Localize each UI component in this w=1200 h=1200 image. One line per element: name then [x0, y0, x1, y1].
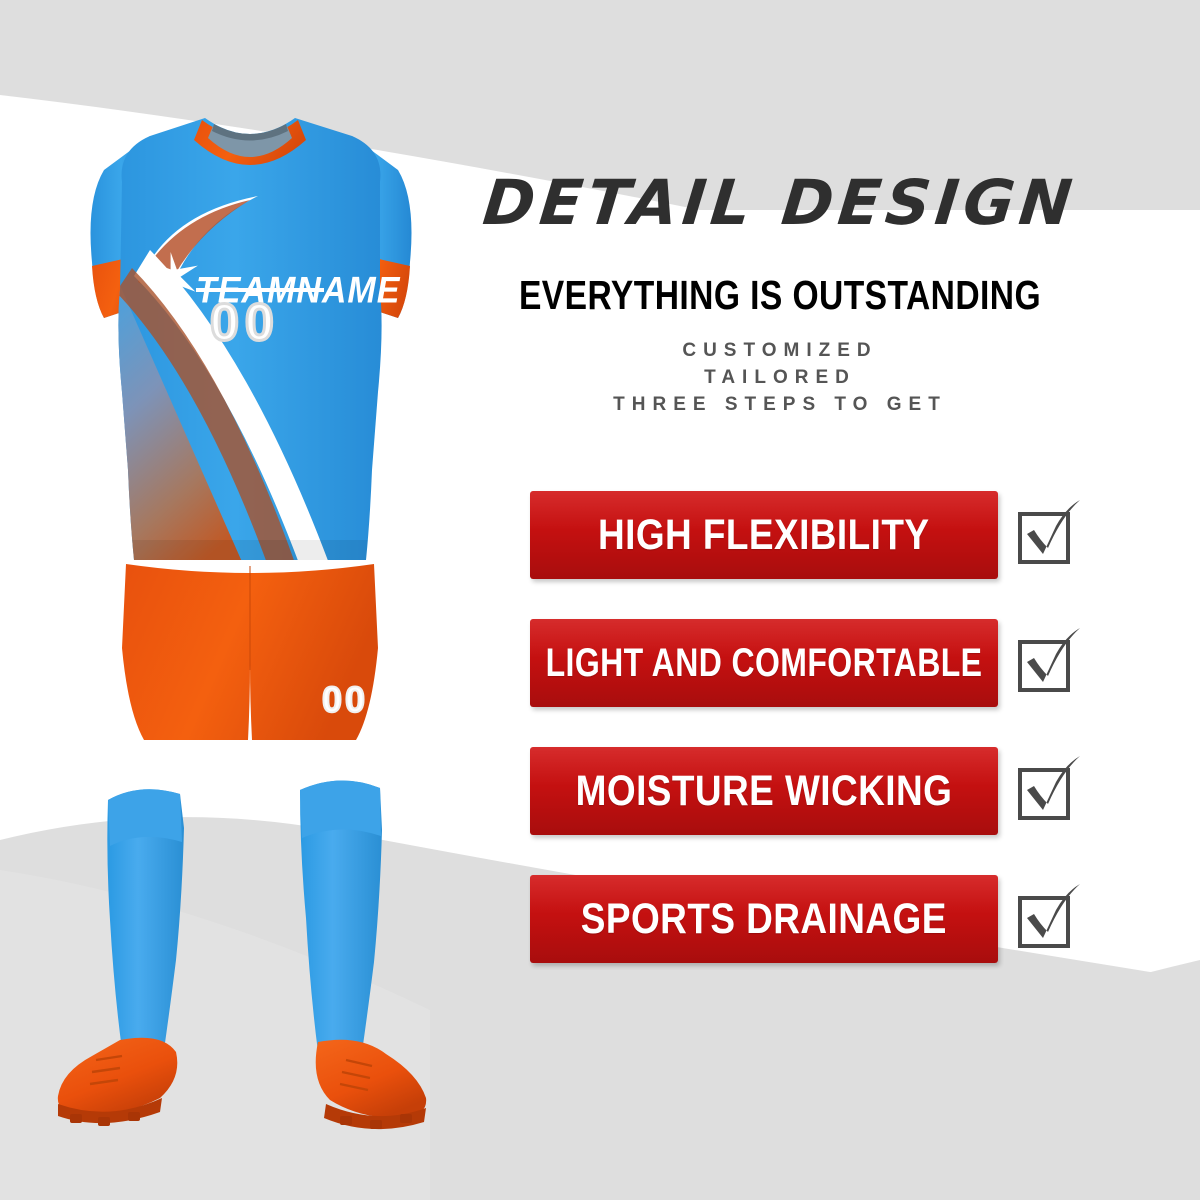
- tagline-line-2: TAILORED: [430, 364, 1130, 391]
- feature-label: LIGHT AND COMFORTABLE: [546, 641, 983, 686]
- feature-row: MOISTURE WICKING: [530, 746, 1170, 836]
- feature-row: HIGH FLEXIBILITY: [530, 490, 1170, 580]
- socks: [107, 780, 382, 1052]
- checkbox-checked-icon[interactable]: [1012, 496, 1084, 574]
- headline-wrap: DETAIL DESIGN: [430, 172, 1130, 234]
- feature-banner-sports-drainage[interactable]: SPORTS DRAINAGE: [530, 875, 998, 963]
- checkbox-checked-svg: [1012, 624, 1084, 702]
- subheadline: EVERYTHING IS OUTSTANDING: [493, 272, 1067, 319]
- soccer-uniform-illustration: TEAMNAME 00 00: [0, 0, 500, 1200]
- feature-banner-light-and-comfortable[interactable]: LIGHT AND COMFORTABLE: [530, 619, 998, 707]
- feature-label: HIGH FLEXIBILITY: [598, 511, 929, 560]
- feature-label: MOISTURE WICKING: [576, 767, 953, 816]
- page-title: DETAIL DESIGN: [427, 172, 1134, 234]
- jersey: TEAMNAME 00: [91, 100, 412, 580]
- feature-banner-high-flexibility[interactable]: HIGH FLEXIBILITY: [530, 491, 998, 579]
- checkbox-checked-icon[interactable]: [1012, 752, 1084, 830]
- product-image: TEAMNAME 00 00: [0, 0, 500, 1200]
- shorts-number: 00: [322, 679, 368, 720]
- cleat-right: [316, 1040, 426, 1118]
- sock-right-cuff: [300, 780, 381, 838]
- checkbox-checked-svg: [1012, 752, 1084, 830]
- tagline-line-3: THREE STEPS TO GET: [430, 391, 1130, 418]
- checkbox-checked-icon[interactable]: [1012, 880, 1084, 958]
- tagline-line-1: CUSTOMIZED: [430, 337, 1130, 364]
- checkbox-checked-svg: [1012, 496, 1084, 574]
- checkbox-checked-svg: [1012, 880, 1084, 958]
- feature-list: HIGH FLEXIBILITY LIGHT AND COMFORTABLE: [530, 490, 1170, 1002]
- tagline-block: CUSTOMIZED TAILORED THREE STEPS TO GET: [430, 337, 1130, 418]
- cleats: [58, 1038, 426, 1129]
- feature-row: SPORTS DRAINAGE: [530, 874, 1170, 964]
- checkbox-checked-icon[interactable]: [1012, 624, 1084, 702]
- feature-row: LIGHT AND COMFORTABLE: [530, 618, 1170, 708]
- info-column: DETAIL DESIGN EVERYTHING IS OUTSTANDING …: [430, 0, 1200, 1200]
- feature-banner-moisture-wicking[interactable]: MOISTURE WICKING: [530, 747, 998, 835]
- shorts: 00: [122, 564, 378, 740]
- svg-text:00: 00: [322, 679, 368, 720]
- feature-label: SPORTS DRAINAGE: [581, 895, 947, 944]
- product-detail-banner: TEAMNAME 00 00: [0, 0, 1200, 1200]
